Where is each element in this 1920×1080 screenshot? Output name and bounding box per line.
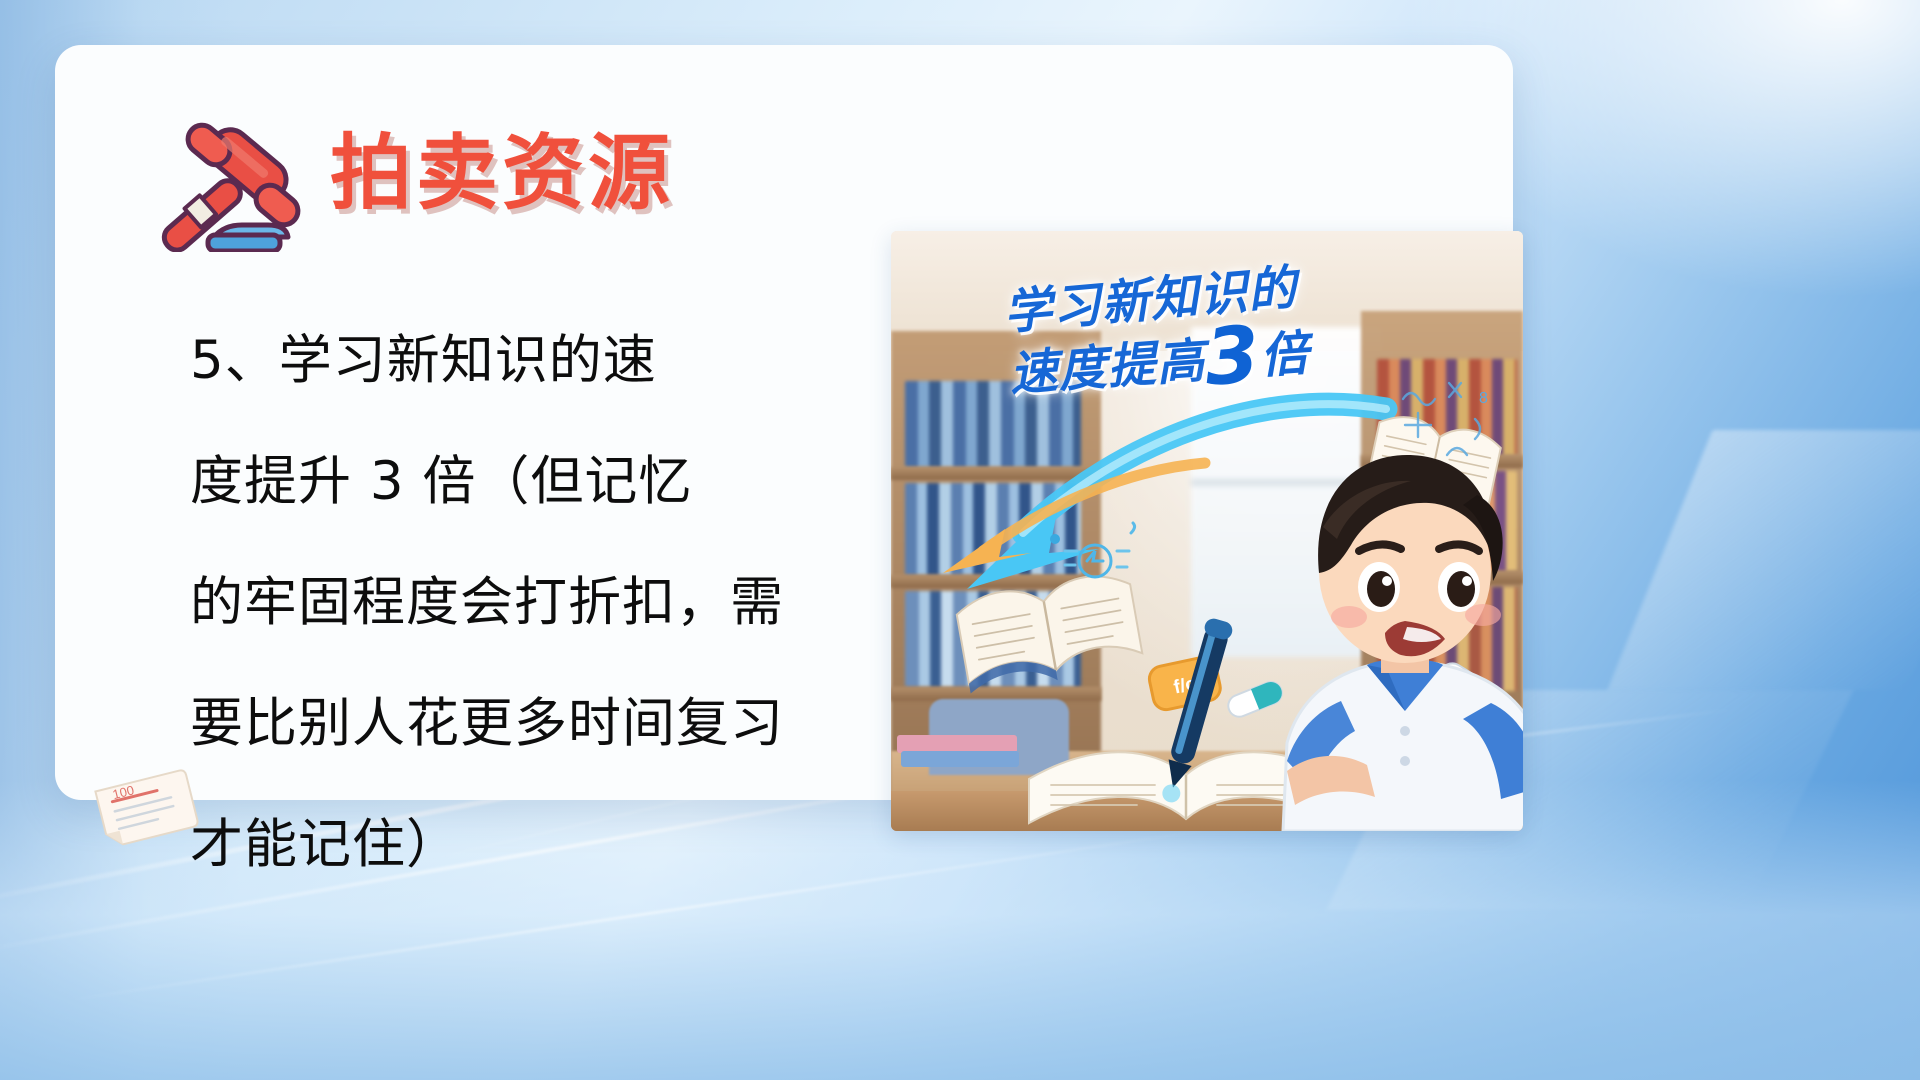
illustration-overlay-number: 3	[1202, 316, 1263, 399]
body-line-3: 的牢固程度会打折扣，需	[190, 542, 870, 663]
lightbulb-sparkle-icon	[1043, 521, 1153, 601]
body-line-2: 度提升 3 倍（但记忆	[190, 421, 870, 542]
paper-note-icon: 100	[93, 763, 205, 853]
gavel-icon	[150, 117, 310, 252]
illustration-overlay-text: 学习新知识的 速度提高3倍	[1003, 267, 1513, 396]
page-title: 拍卖资源	[330, 133, 674, 215]
stacked-book-blue	[901, 751, 1019, 767]
illustration-image: f/o	[891, 231, 1523, 831]
student-character	[1191, 431, 1523, 831]
body-line-5: 才能记住）	[190, 784, 870, 905]
content-card: 拍卖资源 5、学习新知识的速 度提升 3 倍（但记忆 的牢固程度会打折扣，需 要…	[55, 45, 1513, 800]
body-line-4: 要比别人花更多时间复习	[190, 663, 870, 784]
illustration-overlay-line2-suffix: 倍	[1258, 325, 1311, 384]
slide-canvas: 拍卖资源 5、学习新知识的速 度提升 3 倍（但记忆 的牢固程度会打折扣，需 要…	[0, 0, 1920, 1080]
illustration-overlay-line2-prefix: 速度提高	[1008, 333, 1207, 403]
body-text-block: 5、学习新知识的速 度提升 3 倍（但记忆 的牢固程度会打折扣，需 要比别人花更…	[190, 300, 870, 905]
body-line-1: 5、学习新知识的速	[190, 300, 870, 421]
